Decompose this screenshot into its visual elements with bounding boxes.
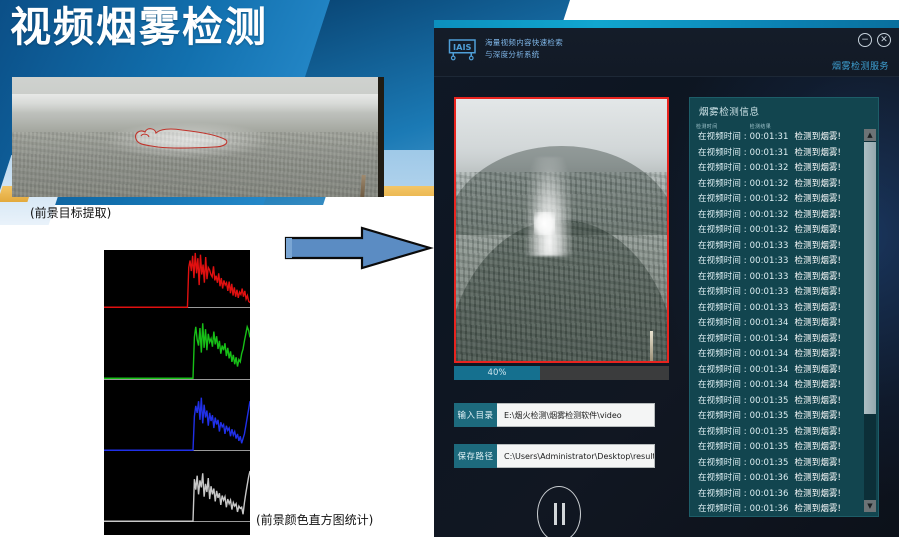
detection-list-item[interactable]: 在视频时间 : 00:01:35检测到烟雾! — [693, 440, 862, 456]
progress-bar-fill: 40% — [454, 366, 540, 380]
pause-icon-bar-right — [562, 503, 565, 525]
progress-percent-label: 40% — [488, 368, 507, 378]
detection-time: 在视频时间 : 00:01:34 — [698, 380, 789, 390]
detection-time: 在视频时间 : 00:01:35 — [698, 427, 789, 437]
detection-list-item[interactable]: 在视频时间 : 00:01:35检测到烟雾! — [693, 425, 862, 441]
detection-list-item[interactable]: 在视频时间 : 00:01:34检测到烟雾! — [693, 347, 862, 363]
color-histogram-chart — [104, 250, 250, 535]
iais-logo-icon: IAIS — [448, 37, 478, 61]
detection-list-item[interactable]: 在视频时间 : 00:01:32检测到烟雾! — [693, 192, 862, 208]
detection-time: 在视频时间 : 00:01:32 — [698, 163, 789, 173]
detection-time: 在视频时间 : 00:01:33 — [698, 303, 789, 313]
detection-time: 在视频时间 : 00:01:32 — [698, 210, 789, 220]
output-directory-label: 保存路径 — [454, 444, 497, 468]
detection-message: 检测到烟雾! — [795, 380, 842, 390]
app-logo-text-line1: 海量视频内容快速检索 — [485, 37, 563, 49]
detection-message: 检测到烟雾! — [795, 427, 842, 437]
page-title: 视频烟雾检测 — [10, 4, 268, 51]
video-preview[interactable] — [454, 97, 669, 363]
detection-list-item[interactable]: 在视频时间 : 00:01:33检测到烟雾! — [693, 254, 862, 270]
detection-time: 在视频时间 : 00:01:35 — [698, 396, 789, 406]
detection-message: 检测到烟雾! — [795, 365, 842, 375]
detection-time: 在视频时间 : 00:01:31 — [698, 132, 789, 142]
detection-message: 检测到烟雾! — [795, 458, 842, 468]
scroll-down-icon[interactable]: ▼ — [864, 500, 876, 512]
detection-list-item[interactable]: 在视频时间 : 00:01:33检测到烟雾! — [693, 301, 862, 317]
detection-message: 检测到烟雾! — [795, 256, 842, 266]
detection-message: 检测到烟雾! — [795, 473, 842, 483]
detection-info-scrollbar[interactable]: ▲ ▼ — [864, 129, 876, 512]
detection-message: 检测到烟雾! — [795, 194, 842, 204]
detection-list-item[interactable]: 在视频时间 : 00:01:36检测到烟雾! — [693, 487, 862, 503]
window-titlebar — [434, 20, 899, 28]
detection-message: 检测到烟雾! — [795, 504, 842, 512]
detection-message: 检测到烟雾! — [795, 210, 842, 220]
app-logo-text: 海量视频内容快速检索 与深度分析系统 — [485, 37, 563, 60]
detection-list-item[interactable]: 在视频时间 : 00:01:32检测到烟雾! — [693, 177, 862, 193]
detection-list-item[interactable]: 在视频时间 : 00:01:34检测到烟雾! — [693, 363, 862, 379]
detection-time: 在视频时间 : 00:01:33 — [698, 272, 789, 282]
foreground-extraction-image — [12, 77, 378, 197]
video-tower — [650, 331, 653, 361]
app-header: IAIS 海量视频内容快速检索 与深度分析系统 − ✕ 烟雾检测服务 — [434, 28, 899, 77]
detection-list-item[interactable]: 在视频时间 : 00:01:35检测到烟雾! — [693, 456, 862, 472]
detection-message: 检测到烟雾! — [795, 163, 842, 173]
detection-list-item[interactable]: 在视频时间 : 00:01:34检测到烟雾! — [693, 316, 862, 332]
progress-bar-track[interactable]: 40% — [454, 366, 669, 380]
histogram-caption: (前景颜色直方图统计) — [256, 511, 373, 528]
detection-time: 在视频时间 : 00:01:32 — [698, 179, 789, 189]
svg-text:IAIS: IAIS — [453, 42, 472, 52]
pause-icon-bar-left — [554, 503, 557, 525]
detection-message: 检测到烟雾! — [795, 272, 842, 282]
detection-list-item[interactable]: 在视频时间 : 00:01:35检测到烟雾! — [693, 394, 862, 410]
detection-info-list[interactable]: 在视频时间 : 00:01:31检测到烟雾!在视频时间 : 00:01:31检测… — [693, 130, 862, 512]
smoke-plume — [526, 157, 572, 257]
detection-list-item[interactable]: 在视频时间 : 00:01:36检测到烟雾! — [693, 471, 862, 487]
column-header-result: 检测结果 — [750, 123, 772, 130]
detection-message: 检测到烟雾! — [795, 349, 842, 359]
detection-time: 在视频时间 : 00:01:35 — [698, 458, 789, 468]
detection-list-item[interactable]: 在视频时间 : 00:01:35检测到烟雾! — [693, 409, 862, 425]
input-directory-field[interactable]: E:\烟火检测\烟雾检测软件\video — [497, 403, 655, 427]
detection-message: 检测到烟雾! — [795, 396, 842, 406]
histogram-series-red — [104, 250, 250, 321]
smoke-core — [534, 212, 555, 236]
detection-message: 检测到烟雾! — [795, 225, 842, 235]
detection-message: 检测到烟雾! — [795, 241, 842, 251]
detection-message: 检测到烟雾! — [795, 148, 842, 158]
detection-time: 在视频时间 : 00:01:32 — [698, 225, 789, 235]
detection-time: 在视频时间 : 00:01:36 — [698, 489, 789, 499]
detection-message: 检测到烟雾! — [795, 318, 842, 328]
detection-list-item[interactable]: 在视频时间 : 00:01:32检测到烟雾! — [693, 208, 862, 224]
output-directory-field[interactable]: C:\Users\Administrator\Desktop\result — [497, 444, 655, 468]
scroll-up-icon[interactable]: ▲ — [864, 129, 876, 141]
column-header-time: 检测时间 — [696, 123, 718, 130]
histogram-series-gray — [104, 464, 250, 535]
detection-list-item[interactable]: 在视频时间 : 00:01:34检测到烟雾! — [693, 378, 862, 394]
foreground-photo-caption: (前景目标提取) — [30, 204, 111, 221]
detection-info-title: 烟雾检测信息 — [699, 104, 760, 118]
scrollbar-thumb[interactable] — [864, 142, 876, 414]
pause-button[interactable] — [537, 486, 581, 537]
detection-info-panel: 烟雾检测信息 检测时间 检测结果 在视频时间 : 00:01:31检测到烟雾!在… — [689, 97, 879, 517]
detection-list-item[interactable]: 在视频时间 : 00:01:32检测到烟雾! — [693, 161, 862, 177]
histogram-row-green — [104, 321, 250, 392]
detection-message: 检测到烟雾! — [795, 287, 842, 297]
foreground-contour-overlay — [130, 123, 240, 157]
output-directory-row: 保存路径 C:\Users\Administrator\Desktop\resu… — [454, 444, 655, 468]
detection-list-item[interactable]: 在视频时间 : 00:01:31检测到烟雾! — [693, 130, 862, 146]
detection-list-item[interactable]: 在视频时间 : 00:01:32检测到烟雾! — [693, 223, 862, 239]
detection-time: 在视频时间 : 00:01:36 — [698, 504, 789, 512]
detection-list-item[interactable]: 在视频时间 : 00:01:33检测到烟雾! — [693, 270, 862, 286]
histogram-series-blue — [104, 393, 250, 464]
close-icon[interactable]: ✕ — [877, 33, 891, 47]
detection-time: 在视频时间 : 00:01:35 — [698, 411, 789, 421]
detection-message: 检测到烟雾! — [795, 303, 842, 313]
detection-list-item[interactable]: 在视频时间 : 00:01:33检测到烟雾! — [693, 285, 862, 301]
detection-message: 检测到烟雾! — [795, 132, 842, 142]
detection-time: 在视频时间 : 00:01:33 — [698, 241, 789, 251]
service-mode-label: 烟雾检测服务 — [832, 59, 889, 72]
app-logo-text-line2: 与深度分析系统 — [485, 49, 563, 61]
detection-time: 在视频时间 : 00:01:33 — [698, 287, 789, 297]
histogram-row-gray — [104, 464, 250, 535]
detection-time: 在视频时间 : 00:01:31 — [698, 148, 789, 158]
detection-time: 在视频时间 : 00:01:36 — [698, 473, 789, 483]
detection-message: 检测到烟雾! — [795, 442, 842, 452]
histogram-series-green — [104, 321, 250, 392]
detection-list-item[interactable]: 在视频时间 : 00:01:33检测到烟雾! — [693, 239, 862, 255]
detection-info-columns: 检测时间 检测结果 — [696, 123, 872, 130]
smoke-detection-app-window: IAIS 海量视频内容快速检索 与深度分析系统 − ✕ 烟雾检测服务 — [434, 20, 899, 537]
histogram-row-blue — [104, 393, 250, 464]
detection-time: 在视频时间 : 00:01:34 — [698, 318, 789, 328]
input-directory-row: 输入目录 E:\烟火检测\烟雾检测软件\video — [454, 403, 655, 427]
detection-message: 检测到烟雾! — [795, 334, 842, 344]
detection-time: 在视频时间 : 00:01:34 — [698, 334, 789, 344]
detection-time: 在视频时间 : 00:01:33 — [698, 256, 789, 266]
minimize-icon[interactable]: − — [858, 33, 872, 47]
detection-list-item[interactable]: 在视频时间 : 00:01:34检测到烟雾! — [693, 332, 862, 348]
histogram-row-red — [104, 250, 250, 321]
input-directory-label: 输入目录 — [454, 403, 497, 427]
detection-message: 检测到烟雾! — [795, 411, 842, 421]
detection-list-item[interactable]: 在视频时间 : 00:01:36检测到烟雾! — [693, 502, 862, 512]
detection-list-item[interactable]: 在视频时间 : 00:01:31检测到烟雾! — [693, 146, 862, 162]
detection-time: 在视频时间 : 00:01:35 — [698, 442, 789, 452]
window-controls: − ✕ — [858, 33, 891, 47]
app-logo-group: IAIS 海量视频内容快速检索 与深度分析系统 — [448, 37, 563, 61]
detection-time: 在视频时间 : 00:01:34 — [698, 365, 789, 375]
detection-message: 检测到烟雾! — [795, 179, 842, 189]
detection-time: 在视频时间 : 00:01:34 — [698, 349, 789, 359]
right-arrow-icon — [282, 222, 434, 274]
detection-time: 在视频时间 : 00:01:32 — [698, 194, 789, 204]
photo-haze-layer — [12, 94, 378, 113]
detection-message: 检测到烟雾! — [795, 489, 842, 499]
